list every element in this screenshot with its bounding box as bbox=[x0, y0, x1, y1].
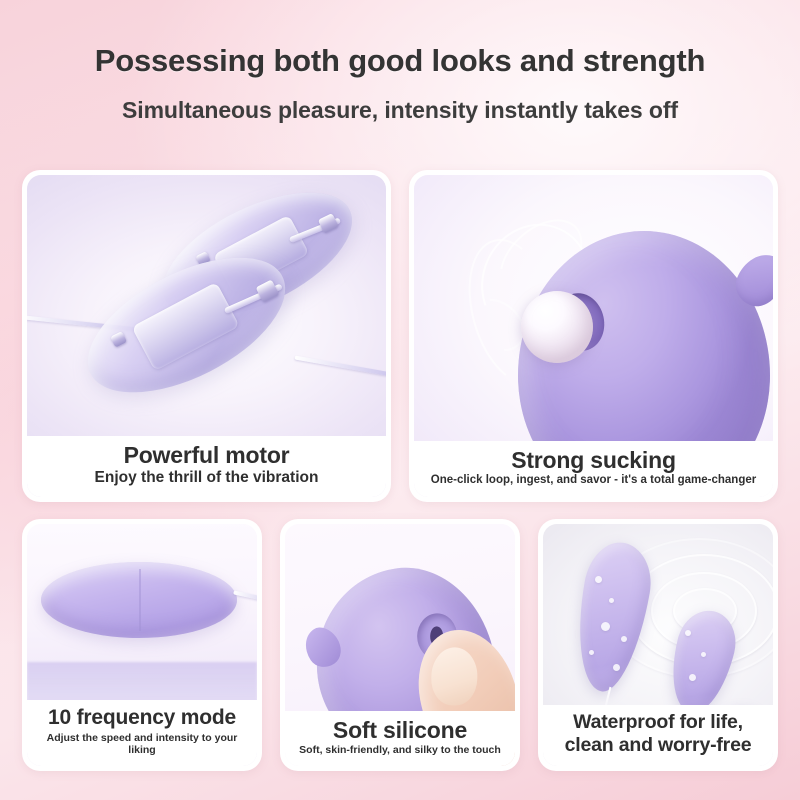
water-droplet bbox=[601, 622, 610, 631]
page-title: Possessing both good looks and strength bbox=[0, 44, 800, 78]
card-caption-frequency-mode: 10 frequency mode Adjust the speed and i… bbox=[27, 700, 257, 766]
card-caption-waterproof: Waterproof for life, clean and worry-fre… bbox=[543, 705, 773, 766]
feature-card-frequency-mode[interactable]: 10 frequency mode Adjust the speed and i… bbox=[22, 519, 262, 771]
card-inner: Soft silicone Soft, skin-friendly, and s… bbox=[285, 524, 515, 766]
card-title: 10 frequency mode bbox=[33, 706, 251, 730]
vibrating-egg bbox=[41, 562, 237, 638]
water-droplet bbox=[595, 576, 602, 583]
water-droplet bbox=[685, 630, 691, 636]
motor-contact-lower bbox=[110, 331, 127, 348]
card-subtitle: Enjoy the thrill of the vibration bbox=[33, 469, 380, 488]
feature-grid-top: Powerful motor Enjoy the thrill of the v… bbox=[22, 170, 778, 502]
pearl-bead bbox=[521, 291, 593, 363]
card-inner: Waterproof for life, clean and worry-fre… bbox=[543, 524, 773, 766]
device-seam-line bbox=[139, 569, 141, 631]
card-inner: Strong sucking One-click loop, ingest, a… bbox=[414, 175, 773, 497]
card-title-line1: Waterproof for life, bbox=[549, 711, 767, 734]
card-title: Soft silicone bbox=[291, 717, 509, 744]
card-subtitle: One-click loop, ingest, and savor - it's… bbox=[420, 474, 767, 488]
card-title: Strong sucking bbox=[420, 447, 767, 474]
card-inner: Powerful motor Enjoy the thrill of the v… bbox=[27, 175, 386, 497]
water-droplet bbox=[589, 650, 594, 655]
fingernail bbox=[430, 647, 478, 707]
product-feature-poster: Possessing both good looks and strength … bbox=[0, 0, 800, 800]
header-block: Possessing both good looks and strength … bbox=[0, 0, 800, 123]
card-subtitle: Adjust the speed and intensity to your l… bbox=[33, 732, 251, 757]
feature-grid-bottom: 10 frequency mode Adjust the speed and i… bbox=[22, 519, 778, 771]
card-subtitle: Soft, skin-friendly, and silky to the to… bbox=[291, 744, 509, 757]
card-inner: 10 frequency mode Adjust the speed and i… bbox=[27, 524, 257, 766]
card-caption-strong-sucking: Strong sucking One-click loop, ingest, a… bbox=[414, 441, 773, 497]
water-droplet bbox=[613, 664, 620, 671]
water-droplet bbox=[609, 598, 614, 603]
water-droplet bbox=[689, 674, 696, 681]
feature-card-powerful-motor[interactable]: Powerful motor Enjoy the thrill of the v… bbox=[22, 170, 391, 502]
card-title-line2: clean and worry-free bbox=[549, 734, 767, 757]
feature-card-waterproof[interactable]: Waterproof for life, clean and worry-fre… bbox=[538, 519, 778, 771]
card-caption-powerful-motor: Powerful motor Enjoy the thrill of the v… bbox=[27, 436, 386, 497]
card-caption-soft-silicone: Soft silicone Soft, skin-friendly, and s… bbox=[285, 711, 515, 766]
card-title: Powerful motor bbox=[33, 442, 380, 469]
page-subtitle: Simultaneous pleasure, intensity instant… bbox=[0, 98, 800, 123]
feature-card-soft-silicone[interactable]: Soft silicone Soft, skin-friendly, and s… bbox=[280, 519, 520, 771]
internal-motor-lower bbox=[131, 282, 239, 371]
water-droplet bbox=[621, 636, 627, 642]
feature-card-strong-sucking[interactable]: Strong sucking One-click loop, ingest, a… bbox=[409, 170, 778, 502]
water-droplet bbox=[701, 652, 706, 657]
